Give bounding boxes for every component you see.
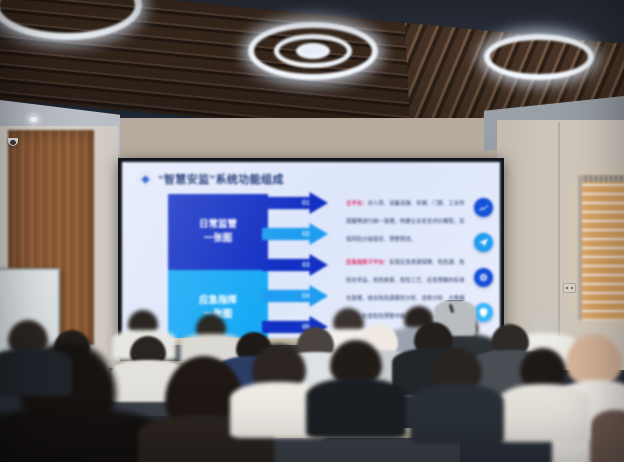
audience-body-foreground <box>0 408 160 462</box>
text-body: 对人员、设备设施、车辆、门禁、工业传感器等进行统一管理，构建企业安全评价模型，实… <box>346 201 465 243</box>
conference-room-photo: “智慧安监”系统功能组成 日常监管一张图 应急指挥一张图 01 02 03 04… <box>0 0 624 462</box>
audience-body <box>410 384 504 444</box>
arrow-number: 04 <box>302 293 310 300</box>
paper-plane-icon <box>474 233 493 252</box>
arrow-number: 02 <box>302 231 310 238</box>
ceiling-ring-light-center <box>248 22 378 80</box>
arrow-03: 03 <box>262 254 328 276</box>
power-outlet <box>563 283 576 293</box>
chart-arrow-icon <box>474 198 493 217</box>
slide-title-text: “智慧安监”系统功能组成 <box>158 171 284 187</box>
window <box>578 175 624 320</box>
gear-compass-icon <box>474 268 493 287</box>
ceiling-ring-light-right <box>484 34 594 80</box>
slide-title: “智慧安监”系统功能组成 <box>140 171 284 187</box>
arrow-number: 03 <box>302 262 310 269</box>
arrow-02: 02 <box>262 223 328 245</box>
block-label: 日常监管一张图 <box>199 218 237 246</box>
audience-arm-foreground <box>590 410 624 462</box>
text-heading: 主平台： <box>346 201 368 207</box>
audience-area <box>0 300 624 462</box>
text-heading: 应急指挥子平台： <box>346 260 389 266</box>
block-daily-supervision: 日常监管一张图 <box>168 194 268 270</box>
window-blinds <box>582 175 624 320</box>
audience-body <box>0 348 72 396</box>
blind-rail <box>582 175 624 182</box>
recessed-downlight <box>30 117 37 122</box>
audience-body <box>498 384 590 442</box>
audience-head-foreground <box>566 334 622 386</box>
arrow-01: 01 <box>262 192 328 214</box>
audience-body <box>306 378 406 438</box>
text-block-main-platform: 主平台：对人员、设备设施、车辆、门禁、工业传感器等进行统一管理，构建企业安全评价… <box>346 192 466 246</box>
arrow-number: 01 <box>302 200 310 207</box>
diamond-bullet-icon <box>138 171 154 187</box>
